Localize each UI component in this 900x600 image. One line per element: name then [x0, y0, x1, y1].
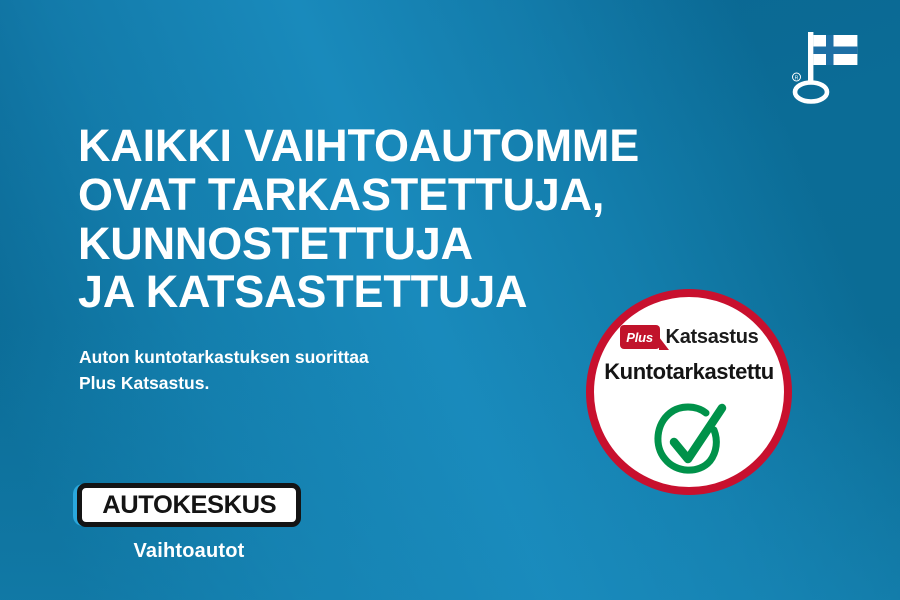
logo-sublabel: Vaihtoautot — [77, 540, 301, 563]
promo-banner: R KAIKKI VAIHTOAUTOMME OVAT TARKASTETTUJ… — [0, 0, 900, 600]
plus-katsastus-brand: Plus Katsastus — [620, 325, 759, 349]
autokeskus-logo[interactable]: AUTOKESKUS Vaihtoautot — [77, 483, 317, 563]
plus-logo-tail — [659, 337, 669, 350]
subtitle: Auton kuntotarkastuksen suorittaa Plus K… — [79, 344, 499, 397]
kuntotarkastettu-badge: Plus Katsastus Kuntotarkastettu — [586, 289, 792, 495]
plate-wordmark: AUTOKESKUS — [102, 493, 276, 518]
license-plate-badge: AUTOKESKUS — [77, 483, 301, 527]
headline-line-4: JA KATSASTETTUJA — [78, 268, 678, 317]
avainlippu-key-flag-icon: R — [788, 26, 864, 104]
katsastus-wordmark: Katsastus — [666, 327, 759, 347]
headline-line-3: KUNNOSTETTUJA — [78, 220, 678, 269]
subtitle-line-2: Plus Katsastus. — [79, 370, 499, 396]
svg-text:R: R — [795, 76, 799, 82]
headline-line-1: KAIKKI VAIHTOAUTOMME — [78, 122, 678, 171]
badge-title: Kuntotarkastettu — [604, 361, 774, 383]
headline: KAIKKI VAIHTOAUTOMME OVAT TARKASTETTUJA,… — [78, 122, 678, 317]
subtitle-line-1: Auton kuntotarkastuksen suorittaa — [79, 344, 499, 370]
headline-line-2: OVAT TARKASTETTUJA, — [78, 171, 678, 220]
green-check-circle-icon — [646, 397, 732, 483]
plus-logo-mark: Plus — [620, 325, 660, 349]
plate-frame: AUTOKESKUS — [77, 483, 301, 527]
plus-logo-text: Plus — [626, 331, 653, 344]
